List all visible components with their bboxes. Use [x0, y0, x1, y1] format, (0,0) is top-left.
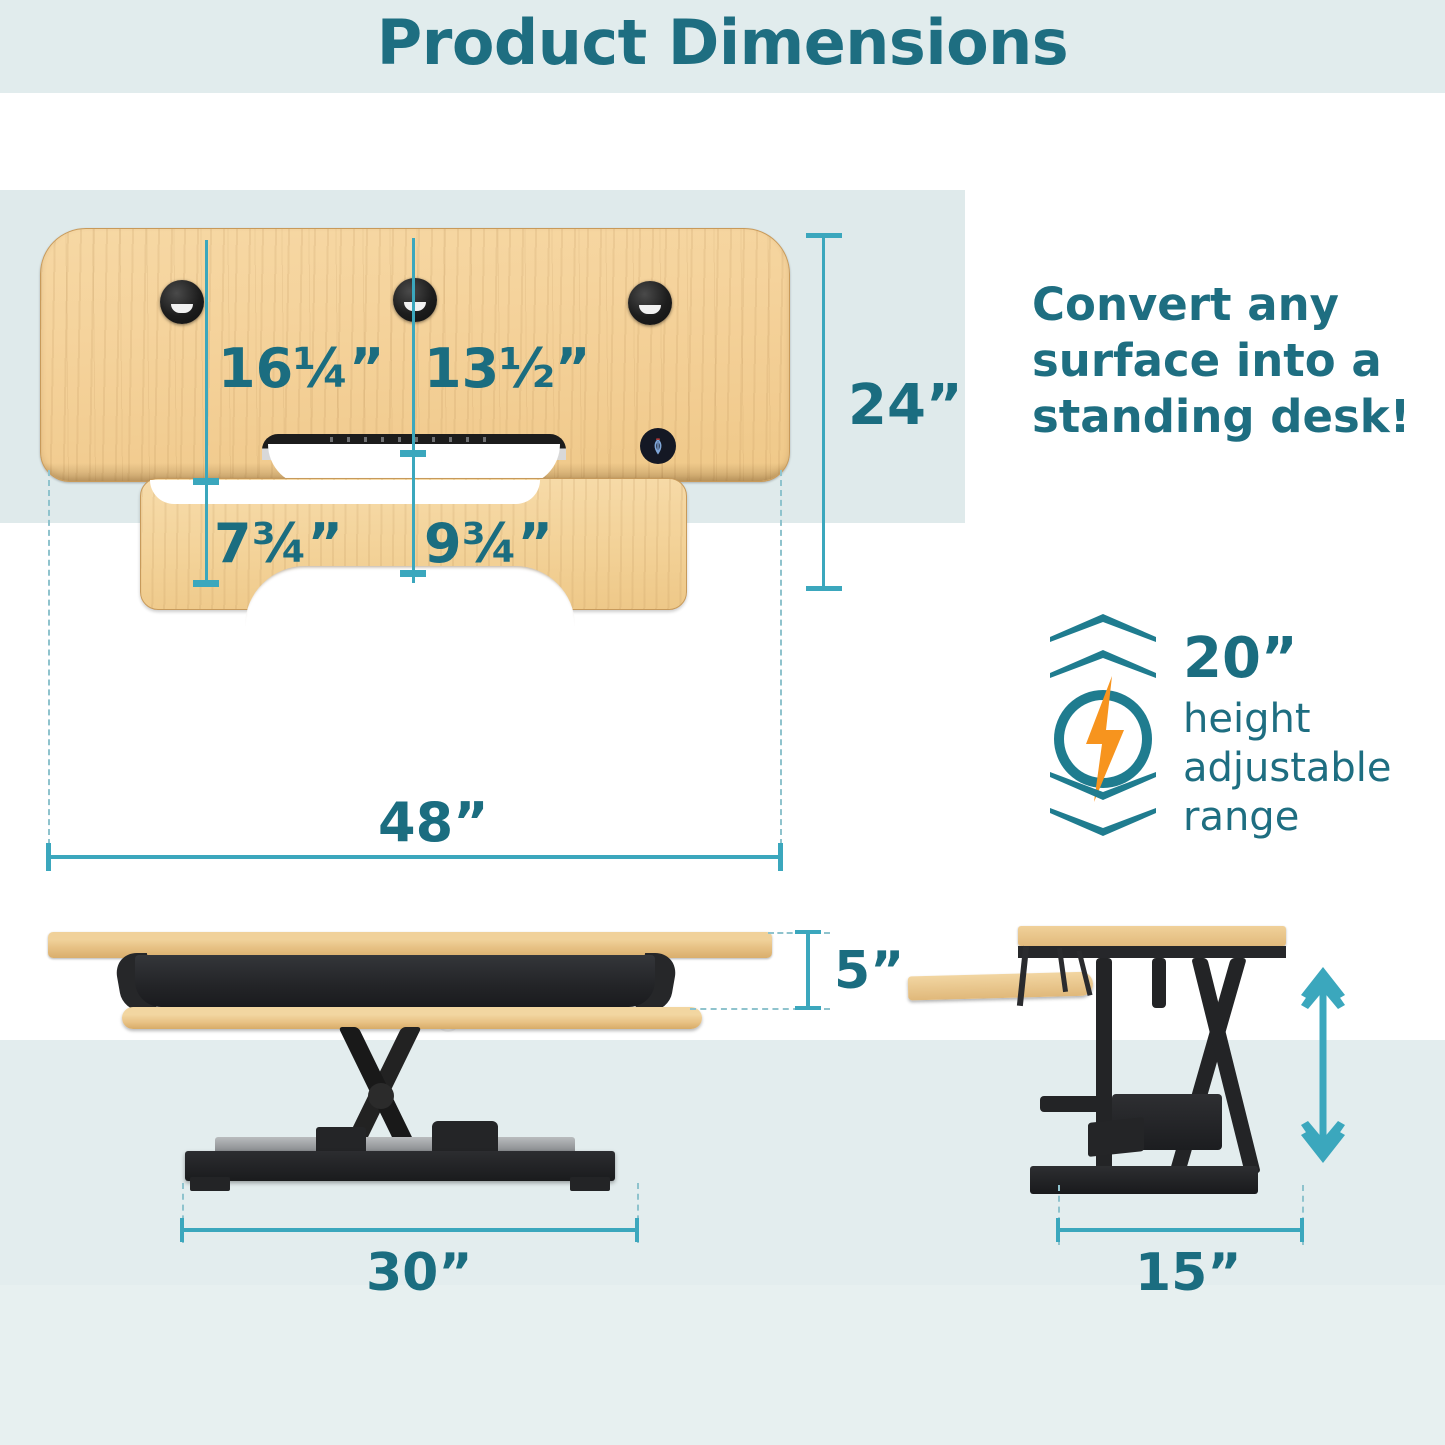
measure-tick-7-75-end: [193, 580, 219, 587]
height-badge-line-3: range: [1183, 793, 1392, 842]
profile-foot-pedal: [1088, 1117, 1144, 1157]
height-badge-line-2: adjustable: [1183, 744, 1392, 793]
dimension-label-tray-left: 7¾”: [214, 512, 343, 575]
dimension-cap-30-left: [180, 1218, 184, 1242]
dimension-cap-5-bottom: [795, 1006, 821, 1010]
height-badge-line-1: height: [1183, 695, 1392, 744]
dimension-label-15: 15”: [1135, 1243, 1242, 1303]
tagline-line-3: standing desk!: [1032, 389, 1432, 445]
tagline-line-1: Convert any: [1032, 277, 1432, 333]
measure-tick-13-5-end: [400, 450, 426, 457]
bottom-secondary-panel: [0, 1285, 1445, 1445]
extension-line-48-right: [780, 470, 782, 855]
dimension-cap-24-bottom: [806, 586, 842, 591]
side-view-keyboard-tray: [122, 1007, 702, 1029]
page-title: Product Dimensions: [0, 6, 1445, 79]
height-adjustable-badge: [1048, 612, 1158, 837]
extension-line-48-left: [48, 470, 50, 855]
chevron-down-icon: [1048, 772, 1158, 802]
dimension-line-30: [182, 1228, 639, 1232]
side-view-frame-body: VERSA DESK: [135, 955, 655, 1007]
dimension-line-48: [48, 855, 782, 859]
base-frame: [185, 1151, 615, 1181]
dimension-cap-30-right: [635, 1218, 639, 1242]
dimension-label-tray-right: 9¾”: [424, 512, 553, 575]
height-badge-text: 20” height adjustable range: [1183, 626, 1392, 842]
infographic-canvas: Product Dimensions 16¼” 13½” 7¾” 9¾” 24”…: [0, 0, 1445, 1445]
profile-handle-bar: [1040, 1096, 1100, 1112]
measure-line-13-5: [412, 238, 415, 583]
dimension-cap-24-top: [806, 233, 842, 238]
cable-grommet-left: [160, 280, 204, 324]
dimension-label-desktop-right: 13½”: [424, 337, 591, 400]
chevron-up-icon: [1048, 612, 1158, 642]
chevron-down-icon: [1048, 808, 1158, 838]
dimension-cap-5-top: [795, 930, 821, 934]
dimension-label-48: 48”: [378, 791, 489, 854]
base-foot-left: [190, 1177, 230, 1191]
cable-grommet-right: [628, 281, 672, 325]
height-range-double-arrow-icon: [1300, 965, 1346, 1165]
scissor-pivot-hub: [368, 1083, 394, 1109]
dimension-cap-48-right: [778, 843, 783, 871]
tagline-block: Convert any surface into a standing desk…: [1032, 277, 1432, 445]
base-foot-right: [570, 1177, 610, 1191]
dimension-label-30: 30”: [366, 1243, 473, 1303]
measure-tick-16-25-end: [193, 478, 219, 485]
dimension-label-5: 5”: [834, 941, 904, 1001]
dimension-label-24: 24”: [848, 373, 963, 438]
height-badge-value: 20”: [1183, 626, 1392, 691]
profile-desktop-board: [1018, 926, 1286, 946]
measure-tick-9-75-end: [400, 570, 426, 577]
dimension-cap-15-right: [1300, 1218, 1304, 1242]
desktop-vent-dots: [330, 437, 500, 442]
profile-cross-brace: [1152, 958, 1166, 1008]
desk-profile-side-view: [900, 908, 1300, 1208]
measure-line-16-25: [205, 240, 208, 585]
dimension-label-desktop-left: 16¼”: [218, 337, 385, 400]
cable-grommet-center: [393, 278, 437, 322]
desk-front-side-view: VERSA DESK: [40, 915, 780, 1205]
tagline-line-2: surface into a: [1032, 333, 1432, 389]
dimension-line-5: [806, 932, 810, 1010]
dimension-line-15: [1058, 1228, 1304, 1232]
dimension-cap-48-left: [46, 843, 51, 871]
profile-base-frame: [1030, 1166, 1258, 1194]
dimension-line-24: [822, 235, 825, 590]
versadesk-logo-badge: [640, 428, 676, 464]
dimension-cap-15-left: [1056, 1218, 1060, 1242]
